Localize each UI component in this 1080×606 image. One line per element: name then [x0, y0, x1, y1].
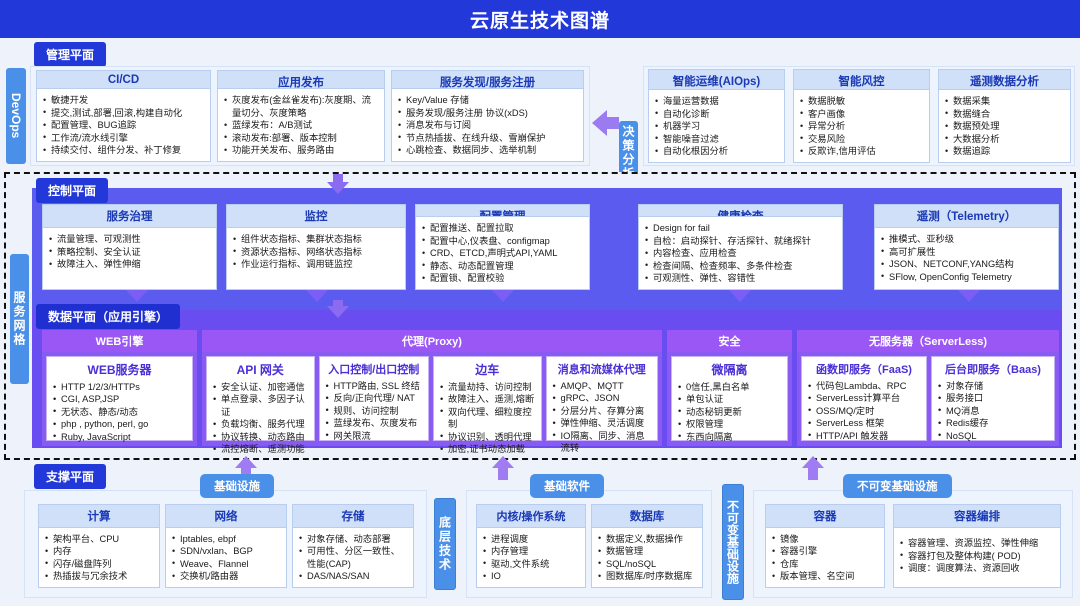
list-item: HTTP 1/2/3/HTTPs [53, 381, 187, 393]
list-item: Weave、Flannel [172, 558, 280, 571]
list-item: 节点热插拔、在线升级、雪崩保护 [398, 132, 577, 145]
list-item: 自检：启动探针、存活探针、就绪探针 [645, 235, 836, 248]
arrow-down-icon-d2 [306, 290, 328, 302]
arrow-down-icon-ctrl [327, 174, 349, 194]
card-kernel-os-title: 内核/操作系统 [477, 505, 585, 528]
list-item: 闪存/磁盘阵列 [45, 558, 153, 571]
arrow-down-icon-d3 [492, 290, 514, 302]
list-item: 进程调度 [483, 533, 579, 546]
list-item: gRPC、JSON [553, 392, 652, 404]
list-item: 代码包Lambda、RPC [808, 380, 921, 392]
list-item: 网关限流 [326, 430, 424, 442]
list-item: 数据缝合 [945, 108, 1064, 121]
list-item: 无状态、静态/动态 [53, 406, 187, 418]
card-database-title: 数据库 [592, 505, 702, 528]
arrow-down-icon-data [327, 300, 349, 318]
list-item: 大数据分析 [945, 133, 1064, 146]
list-item: 持续交付、组件分发、补丁修复 [43, 144, 204, 157]
arrow-up-icon-3 [802, 456, 824, 480]
card-baas-title: 后台即服务（Baas) [932, 357, 1054, 379]
list-item: php , python, perl, go [53, 418, 187, 430]
list-item: 可观测性、弹性、容错性 [645, 272, 836, 285]
list-item: 服务接口 [938, 392, 1049, 404]
list-item: CGI, ASP,JSP [53, 393, 187, 405]
list-item: 数据管理 [598, 545, 696, 558]
list-item: 服务发现/服务注册 协议(xDS) [398, 107, 577, 120]
list-item: 检查间隔、检查频率、多条件检查 [645, 260, 836, 273]
card-aiops-title: 智能运维(AIOps) [649, 70, 784, 90]
list-item: 容器引擎 [772, 545, 878, 558]
card-service-governance[interactable]: 服务治理 流量管理、可观测性 策略控制、安全认证 故障注入、弹性伸缩 [42, 204, 217, 290]
list-item: MQ消息 [938, 405, 1049, 417]
sidebar-label-service-mesh: 服务网格 [10, 254, 29, 384]
list-item: 配置锁、配置校验 [422, 272, 583, 285]
card-risk-control-title: 智能风控 [794, 70, 929, 90]
list-item: 蓝绿发布：A/B测试 [224, 119, 378, 132]
list-item: 故障注入、遥测,熔断 [440, 393, 536, 405]
list-item: 动态秘钥更新 [678, 406, 782, 418]
list-item: 作业运行指标、调用链监控 [233, 258, 399, 271]
card-api-gateway[interactable]: API 网关 安全认证、加密通信 单点登录、多因子认证 负载均衡、服务代理 协议… [206, 356, 315, 441]
list-item: IO隔离、同步、消息流转 [553, 430, 652, 455]
card-health-check[interactable]: 健康检查 Design for fail 自检：启动探针、存活探针、就绪探针 内… [638, 204, 843, 290]
list-item: 单包认证 [678, 393, 782, 405]
list-item: 静态、动态配置管理 [422, 260, 583, 273]
list-item: 单点登录、多因子认证 [213, 393, 309, 418]
card-sidecar[interactable]: 边车 流量劫持、访问控制 故障注入、遥测,熔断 双向代理、细粒度控制 协议识别、… [433, 356, 542, 441]
card-app-release[interactable]: 应用发布 灰度发布(金丝雀发布):灰度期、流量切分、灰度策略 蓝绿发布：A/B测… [217, 70, 385, 162]
list-item: 热插拔与冗余技术 [45, 570, 153, 583]
list-item: 机器学习 [655, 120, 778, 133]
support-plane-tag: 支撑平面 [34, 464, 106, 489]
card-sidecar-title: 边车 [434, 357, 541, 380]
list-item: 交易风险 [800, 133, 923, 146]
list-item: ServerLess计算平台 [808, 392, 921, 404]
card-container-orchestration-title: 容器编排 [894, 505, 1060, 528]
list-item: 数据定义,数据操作 [598, 533, 696, 546]
list-item: 异常分析 [800, 120, 923, 133]
arrow-up-icon-2 [492, 456, 514, 480]
card-service-discovery-title: 服务发现/服务注册 [392, 71, 583, 89]
list-item: 心跳检查、数据同步、选举机制 [398, 144, 577, 157]
arrow-down-icon-d5 [958, 290, 980, 302]
card-kernel-os[interactable]: 内核/操作系统 进程调度 内存管理 驱动,文件系统 IO [476, 504, 586, 588]
card-message-stream-proxy-title: 消息和流媒体代理 [547, 357, 657, 379]
list-item: 内存 [45, 545, 153, 558]
card-message-stream-proxy[interactable]: 消息和流媒体代理 AMQP、MQTT gRPC、JSON 分层分片、存算分离 弹… [546, 356, 658, 441]
arrow-down-icon-d1 [126, 290, 148, 302]
list-item: 配置管理、BUG追踪 [43, 119, 204, 132]
list-item: 权限管理 [678, 418, 782, 430]
card-telemetry[interactable]: 遥测（Telemetry） 推模式、亚秒级 高可扩展性 JSON、NETCONF… [874, 204, 1059, 290]
list-item: 海量运营数据 [655, 95, 778, 108]
card-faas-title: 函数即服务（FaaS) [802, 357, 926, 379]
list-item: NoSQL [938, 430, 1049, 442]
group-proxy: 代理(Proxy) API 网关 安全认证、加密通信 单点登录、多因子认证 负载… [202, 330, 662, 446]
list-item: SDN/vxlan、BGP [172, 545, 280, 558]
card-risk-control[interactable]: 智能风控 数据脱敏 客户画像 异常分析 交易风险 反欺诈,信用评估 [793, 69, 930, 163]
page-title-bar: 云原生技术图谱 [0, 0, 1080, 38]
sidebar-label-immutable-infra: 不可变基础设施 [722, 484, 744, 600]
card-app-release-title: 应用发布 [218, 71, 384, 89]
control-plane-tag: 控制平面 [36, 178, 108, 203]
card-telemetry-title: 遥测（Telemetry） [875, 205, 1058, 228]
list-item: 负载均衡、服务代理 [213, 418, 309, 430]
list-item: Iptables, ebpf [172, 533, 280, 546]
group-security-title: 安全 [667, 330, 792, 352]
card-health-check-title: 健康检查 [639, 205, 842, 217]
card-telemetry-analysis-title: 遥测数据分析 [939, 70, 1070, 90]
sidebar-label-underlying-tech-1: 底层技术 [434, 498, 456, 590]
list-item: 配置推送、配置拉取 [422, 222, 583, 235]
list-item: 客户画像 [800, 108, 923, 121]
list-item: 智能噪音过滤 [655, 133, 778, 146]
list-item: 工作流/流水线引擎 [43, 132, 204, 145]
card-monitoring[interactable]: 监控 组件状态指标、集群状态指标 资源状态指标、网络状态指标 作业运行指标、调用… [226, 204, 406, 290]
list-item: 高可扩展性 [881, 246, 1052, 259]
list-item: 安全认证、加密通信 [213, 381, 309, 393]
list-item: Ruby, JavaScript [53, 431, 187, 443]
list-item: 协议识别、透明代理 [440, 431, 536, 443]
group-serverless: 无服务器（ServerLess) 函数即服务（FaaS) 代码包Lambda、R… [797, 330, 1059, 446]
card-service-discovery[interactable]: 服务发现/服务注册 Key/Value 存储 服务发现/服务注册 协议(xDS)… [391, 70, 584, 162]
data-plane-tag: 数据平面（应用引擎） [36, 304, 180, 329]
card-network-title: 网络 [166, 505, 286, 528]
list-item: 提交,测试,部署,回滚,构建自动化 [43, 107, 204, 120]
support-plane-region: 支撑平面 基础设施 计算 架构平台、CPU 内存 闪存/磁盘阵列 热插拔与冗余技… [0, 460, 1080, 606]
list-item: 版本管理、名空间 [772, 570, 878, 583]
list-item: 分层分片、存算分离 [553, 405, 652, 417]
card-container[interactable]: 容器 镜像 容器引擎 仓库 版本管理、名空间 [765, 504, 885, 588]
card-compute[interactable]: 计算 架构平台、CPU 内存 闪存/磁盘阵列 热插拔与冗余技术 [38, 504, 160, 588]
group-serverless-title: 无服务器（ServerLess) [797, 330, 1059, 352]
card-ingress-egress-title: 入口控制/出口控制 [320, 357, 429, 379]
list-item: 0信任,黑白名单 [678, 381, 782, 393]
page-title: 云原生技术图谱 [470, 6, 610, 33]
list-item: 加密,证书动态加载 [440, 443, 536, 455]
list-item: ServerLess 框架 [808, 417, 921, 429]
list-item: Redis缓存 [938, 417, 1049, 429]
card-faas[interactable]: 函数即服务（FaaS) 代码包Lambda、RPC ServerLess计算平台… [801, 356, 927, 441]
list-item: 灰度发布(金丝雀发布):灰度期、流量切分、灰度策略 [224, 94, 378, 119]
service-mesh-region: 服务网格 控制平面 服务治理 流量管理、可观测性 策略控制、安全认证 故障注入、… [4, 172, 1076, 460]
list-item: 资源状态指标、网络状态指标 [233, 246, 399, 259]
list-item: 流控熔断、遥测功能 [213, 443, 309, 455]
list-item: JSON、NETCONF,YANG结构 [881, 258, 1052, 271]
list-item: 数据脱敏 [800, 95, 923, 108]
list-item: 对象存储、动态部署 [299, 533, 407, 546]
card-microsegmentation[interactable]: 微隔离 0信任,黑白名单 单包认证 动态秘钥更新 权限管理 东西向隔离 [671, 356, 788, 441]
list-item: 仓库 [772, 558, 878, 571]
list-item: 蓝绿发布、灰度发布 [326, 417, 424, 429]
card-microsegmentation-title: 微隔离 [672, 357, 787, 380]
list-item: 镜像 [772, 533, 878, 546]
group-proxy-title: 代理(Proxy) [202, 330, 662, 352]
card-cicd-title: CI/CD [37, 71, 210, 89]
list-item: 消息发布与订阅 [398, 119, 577, 132]
list-item: 反欺诈,信用评估 [800, 145, 923, 158]
list-item: 弹性伸缩、灵活调度 [553, 417, 652, 429]
arrow-down-icon-d4 [729, 290, 751, 302]
list-item: 内容检查、应用检查 [645, 247, 836, 260]
list-item: 自动化诊断 [655, 108, 778, 121]
list-item: 架构平台、CPU [45, 533, 153, 546]
list-item: 故障注入、弹性伸缩 [49, 258, 210, 271]
list-item: 组件状态指标、集群状态指标 [233, 233, 399, 246]
card-api-gateway-title: API 网关 [207, 357, 314, 380]
list-item: SQL/noSQL [598, 558, 696, 571]
sidebar-label-devops: DevOps [6, 68, 26, 164]
list-item: 东西向隔离 [678, 431, 782, 443]
list-item: IO [483, 570, 579, 583]
list-item: AMQP、MQTT [553, 380, 652, 392]
list-item: DAS/NAS/SAN [299, 570, 407, 583]
list-item: 对象存储 [938, 380, 1049, 392]
card-baas[interactable]: 后台即服务（Baas) 对象存储 服务接口 MQ消息 Redis缓存 NoSQL [931, 356, 1055, 441]
card-container-orchestration[interactable]: 容器编排 容器管理、资源监控、弹性伸缩 容器打包及整体构建( POD) 调度：调… [893, 504, 1061, 588]
list-item: 协议转换、动态路由 [213, 431, 309, 443]
card-telemetry-analysis[interactable]: 遥测数据分析 数据采集 数据缝合 数据预处理 大数据分析 数据追踪 [938, 69, 1071, 163]
card-database[interactable]: 数据库 数据定义,数据操作 数据管理 SQL/noSQL 图数据库/时序数据库 [591, 504, 703, 588]
list-item: 双向代理、细粒度控制 [440, 406, 536, 431]
group-security: 安全 微隔离 0信任,黑白名单 单包认证 动态秘钥更新 权限管理 东西向隔离 [667, 330, 792, 446]
pill-base-software: 基础软件 [530, 474, 604, 498]
list-item: Key/Value 存储 [398, 94, 577, 107]
card-ingress-egress[interactable]: 入口控制/出口控制 HTTP路由, SSL 终结 反向/正向代理/ NAT 规则… [319, 356, 430, 441]
card-web-server[interactable]: WEB服务器 HTTP 1/2/3/HTTPs CGI, ASP,JSP 无状态… [46, 356, 193, 441]
card-network[interactable]: 网络 Iptables, ebpf SDN/vxlan、BGP Weave、Fl… [165, 504, 287, 588]
list-item: 滚动发布:部署、版本控制 [224, 132, 378, 145]
list-item: 反向/正向代理/ NAT [326, 392, 424, 404]
arrow-left-icon [592, 110, 619, 136]
list-item: SFlow, OpenConfig Telemetry [881, 271, 1052, 284]
list-item: 容器管理、资源监控、弹性伸缩 [900, 537, 1054, 550]
list-item: 策略控制、安全认证 [49, 246, 210, 259]
list-item: HTTP路由, SSL 终结 [326, 380, 424, 392]
list-item: 数据采集 [945, 95, 1064, 108]
list-item: 数据预处理 [945, 120, 1064, 133]
diagram-root: 云原生技术图谱 管理平面 DevOps CI/CD 敏捷开发 提交,测试,部署,… [0, 0, 1080, 606]
list-item: Design for fail [645, 222, 836, 235]
group-web-engine-title: WEB引擎 [42, 330, 197, 352]
list-item: 交换机/路由器 [172, 570, 280, 583]
list-item: 自动化根因分析 [655, 145, 778, 158]
list-item: 配置中心,仪表盘、configmap [422, 235, 583, 248]
card-storage-title: 存储 [293, 505, 413, 528]
card-service-governance-title: 服务治理 [43, 205, 216, 228]
pill-immutable-infra: 不可变基础设施 [843, 474, 952, 498]
list-item: 图数据库/时序数据库 [598, 570, 696, 583]
card-web-server-title: WEB服务器 [47, 357, 192, 380]
card-config-management-title: 配置管理 [416, 205, 589, 217]
card-config-management[interactable]: 配置管理 配置推送、配置拉取 配置中心,仪表盘、configmap CRD、ET… [415, 204, 590, 290]
list-item: 驱动,文件系统 [483, 558, 579, 571]
pill-infrastructure: 基础设施 [200, 474, 274, 498]
card-aiops[interactable]: 智能运维(AIOps) 海量运营数据 自动化诊断 机器学习 智能噪音过滤 自动化… [648, 69, 785, 163]
list-item: 数据追踪 [945, 145, 1064, 158]
list-item: 可用性、分区一致性、性能(CAP) [299, 545, 407, 570]
list-item: 流量管理、可观测性 [49, 233, 210, 246]
card-storage[interactable]: 存储 对象存储、动态部署 可用性、分区一致性、性能(CAP) DAS/NAS/S… [292, 504, 414, 588]
list-item: 敏捷开发 [43, 94, 204, 107]
management-plane-tag: 管理平面 [34, 42, 106, 67]
list-item: CRD、ETCD,声明式API,YAML [422, 247, 583, 260]
list-item: 功能开关发布、服务路由 [224, 144, 378, 157]
management-plane-region: 管理平面 DevOps CI/CD 敏捷开发 提交,测试,部署,回滚,构建自动化… [0, 38, 1080, 172]
list-item: 调度：调度算法、资源回收 [900, 562, 1054, 575]
card-compute-title: 计算 [39, 505, 159, 528]
list-item: 容器打包及整体构建( POD) [900, 550, 1054, 563]
list-item: 内存管理 [483, 545, 579, 558]
card-monitoring-title: 监控 [227, 205, 405, 228]
group-web-engine: WEB引擎 WEB服务器 HTTP 1/2/3/HTTPs CGI, ASP,J… [42, 330, 197, 446]
list-item: 流量劫持、访问控制 [440, 381, 536, 393]
list-item: 推模式、亚秒级 [881, 233, 1052, 246]
card-cicd[interactable]: CI/CD 敏捷开发 提交,测试,部署,回滚,构建自动化 配置管理、BUG追踪 … [36, 70, 211, 162]
card-container-title: 容器 [766, 505, 884, 528]
list-item: 规则、访问控制 [326, 405, 424, 417]
list-item: OSS/MQ/定时 [808, 405, 921, 417]
list-item: HTTP/API 触发器 [808, 430, 921, 442]
